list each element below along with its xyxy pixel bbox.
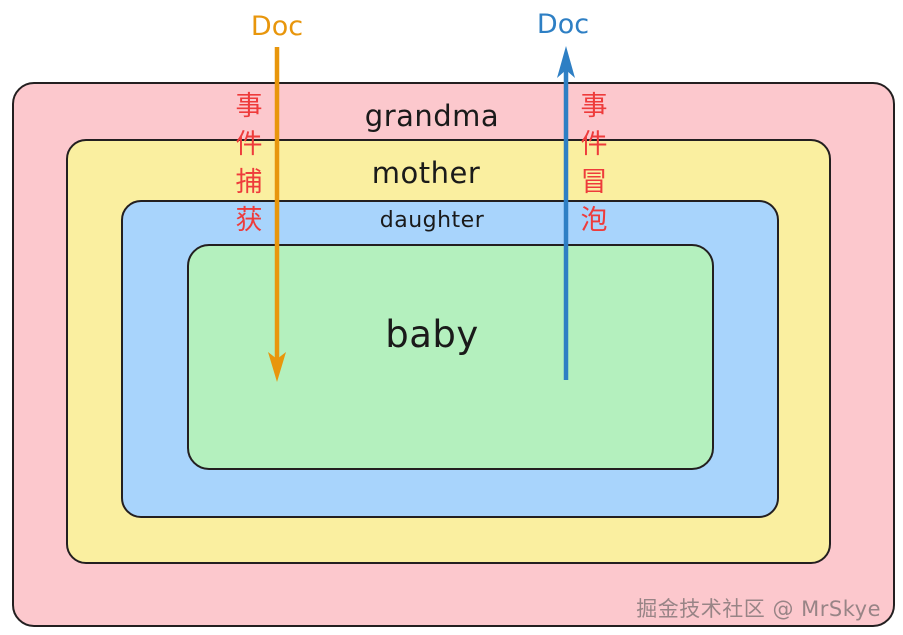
- phase-label-capture: 事件捕获: [234, 88, 264, 240]
- box-label-daughter: daughter: [380, 208, 485, 233]
- box-baby: [187, 244, 714, 470]
- doc-label-capture: Doc: [251, 11, 303, 42]
- box-label-grandma: grandma: [365, 99, 499, 133]
- box-label-mother: mother: [372, 156, 481, 190]
- diagram-canvas: grandma mother daughter baby Doc Doc 事件捕…: [0, 0, 903, 635]
- doc-label-bubble: Doc: [537, 9, 589, 40]
- box-label-baby: baby: [385, 313, 479, 356]
- watermark: 掘金技术社区 @ MrSkye: [636, 593, 881, 623]
- phase-label-bubble: 事件冒泡: [579, 88, 609, 240]
